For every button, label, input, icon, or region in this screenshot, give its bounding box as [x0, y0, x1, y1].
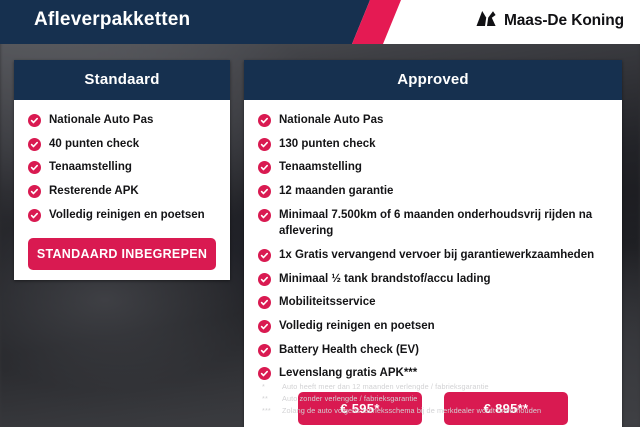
- check-circle-icon: [258, 161, 271, 174]
- check-circle-icon: [258, 367, 271, 380]
- feature-list-approved: Nationale Auto Pas130 punten checkTenaam…: [258, 112, 608, 382]
- check-circle-icon: [258, 138, 271, 151]
- feature-label: Volledig reinigen en poetsen: [279, 318, 435, 335]
- feature-item: Tenaamstelling: [258, 159, 608, 176]
- feature-item: Levenslang gratis APK***: [258, 365, 608, 382]
- footnotes: *Auto heeft meer dan 12 maanden verlengd…: [262, 381, 632, 416]
- feature-item: Battery Health check (EV): [258, 342, 608, 359]
- footnote-row: **Auto zonder verlengde / fabrieksgarant…: [262, 393, 632, 405]
- feature-item: Volledig reinigen en poetsen: [28, 207, 216, 224]
- feature-item: Resterende APK: [28, 183, 216, 200]
- feature-label: Volledig reinigen en poetsen: [49, 207, 205, 224]
- feature-label: Nationale Auto Pas: [49, 112, 153, 129]
- footnote-row: ***Zolang de auto volgens fabrieksschema…: [262, 405, 632, 417]
- check-circle-icon: [258, 209, 271, 222]
- feature-label: 1x Gratis vervangend vervoer bij garanti…: [279, 247, 594, 264]
- feature-label: Levenslang gratis APK***: [279, 365, 417, 382]
- feature-item: Minimaal 7.500km of 6 maanden onderhouds…: [258, 207, 608, 240]
- feature-item: Tenaamstelling: [28, 159, 216, 176]
- check-circle-icon: [258, 114, 271, 127]
- feature-item: Nationale Auto Pas: [258, 112, 608, 129]
- promo-slide: Afleverpakketten Maas-De Koning Standaar…: [0, 0, 640, 427]
- card-title-standard: Standaard: [14, 60, 230, 100]
- page-header: Afleverpakketten Maas-De Koning: [0, 0, 640, 44]
- feature-label: Mobiliteitsservice: [279, 294, 376, 311]
- brand-logo: Maas-De Koning: [475, 10, 624, 32]
- check-circle-icon: [258, 249, 271, 262]
- feature-item: Minimaal ½ tank brandstof/accu lading: [258, 271, 608, 288]
- feature-label: 12 maanden garantie: [279, 183, 393, 200]
- check-circle-icon: [28, 138, 41, 151]
- feature-label: Tenaamstelling: [49, 159, 132, 176]
- package-card-standard: Standaard Nationale Auto Pas40 punten ch…: [14, 60, 230, 280]
- check-circle-icon: [28, 185, 41, 198]
- feature-label: 40 punten check: [49, 136, 139, 153]
- page-title: Afleverpakketten: [34, 9, 190, 31]
- footnote-marker: ***: [262, 405, 282, 417]
- check-circle-icon: [28, 161, 41, 174]
- standard-included-button[interactable]: STANDAARD INBEGREPEN: [28, 238, 216, 270]
- feature-list-standard: Nationale Auto Pas40 punten checkTenaams…: [28, 112, 216, 223]
- footnote-text: Zolang de auto volgens fabrieksschema bi…: [282, 405, 632, 417]
- feature-label: Nationale Auto Pas: [279, 112, 383, 129]
- card-body-approved: Nationale Auto Pas130 punten checkTenaam…: [244, 100, 622, 427]
- check-circle-icon: [258, 320, 271, 333]
- brand-name: Maas-De Koning: [504, 12, 624, 30]
- feature-item: 12 maanden garantie: [258, 183, 608, 200]
- footnote-marker: **: [262, 393, 282, 405]
- feature-item: 40 punten check: [28, 136, 216, 153]
- feature-item: Volledig reinigen en poetsen: [258, 318, 608, 335]
- feature-label: Battery Health check (EV): [279, 342, 419, 359]
- check-circle-icon: [28, 209, 41, 222]
- feature-item: 130 punten check: [258, 136, 608, 153]
- footnote-text: Auto zonder verlengde / fabrieksgarantie: [282, 393, 632, 405]
- feature-label: Tenaamstelling: [279, 159, 362, 176]
- feature-label: Resterende APK: [49, 183, 139, 200]
- feature-label: Minimaal 7.500km of 6 maanden onderhouds…: [279, 207, 608, 240]
- check-circle-icon: [258, 344, 271, 357]
- check-circle-icon: [258, 296, 271, 309]
- package-card-approved: Approved Nationale Auto Pas130 punten ch…: [244, 60, 622, 427]
- footnote-marker: *: [262, 381, 282, 393]
- check-circle-icon: [258, 185, 271, 198]
- feature-item: 1x Gratis vervangend vervoer bij garanti…: [258, 247, 608, 264]
- check-circle-icon: [28, 114, 41, 127]
- feature-label: 130 punten check: [279, 136, 376, 153]
- maas-de-koning-mark-icon: [475, 10, 497, 32]
- footnote-row: *Auto heeft meer dan 12 maanden verlengd…: [262, 381, 632, 393]
- footnote-text: Auto heeft meer dan 12 maanden verlengde…: [282, 381, 632, 393]
- feature-item: Mobiliteitsservice: [258, 294, 608, 311]
- card-title-approved: Approved: [244, 60, 622, 100]
- check-circle-icon: [258, 273, 271, 286]
- feature-item: Nationale Auto Pas: [28, 112, 216, 129]
- feature-label: Minimaal ½ tank brandstof/accu lading: [279, 271, 491, 288]
- card-body-standard: Nationale Auto Pas40 punten checkTenaams…: [14, 100, 230, 280]
